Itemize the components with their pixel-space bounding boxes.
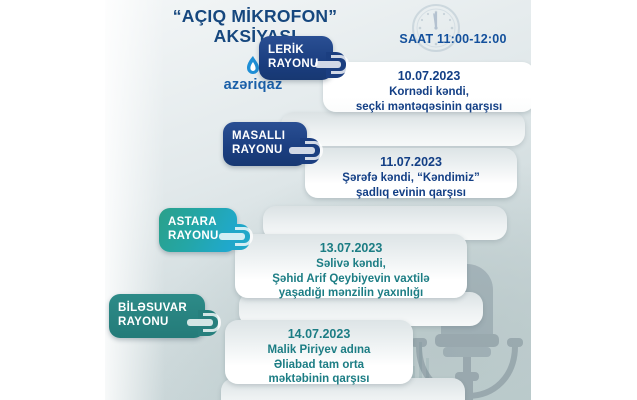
entry-address-1-line1: Kornədi kəndi, [331, 85, 527, 100]
district-tag-masalli[interactable]: MASALLI RAYONU [223, 122, 307, 166]
connector-plug [289, 141, 323, 160]
district-tag-lerik[interactable]: LERİK RAYONU [259, 36, 333, 80]
entry-address-3-line1: Səlivə kəndi, [243, 257, 459, 272]
district-tag-bilesuvar-line1: BİLƏSUVAR [118, 302, 187, 314]
poster-title-line2: AKSİYASI [105, 26, 405, 46]
poster-title-line1: “AÇIQ MİKROFON” [173, 6, 337, 26]
district-tag-bilesuvar-line2: RAYONU [118, 315, 196, 329]
campaign-poster: “AÇIQ MİKROFON” AKSİYASI azəriqaz SAAT 1… [105, 0, 531, 400]
panel-sheen [105, 0, 165, 400]
entry-date-1: 10.07.2023 [331, 68, 527, 84]
connector-plug [219, 227, 253, 246]
entry-card-4: 14.07.2023 Malik Piriyev adına Əliabad t… [225, 320, 413, 384]
entry-card-1: 10.07.2023 Kornədi kəndi, seçki məntəqəs… [323, 62, 531, 112]
entry-address-3-line2: Şəhid Arif Qeybiyevin vaxtilə [243, 272, 459, 287]
screenshot-canvas: “AÇIQ MİKROFON” AKSİYASI azəriqaz SAAT 1… [0, 0, 637, 400]
district-tag-bilesuvar[interactable]: BİLƏSUVAR RAYONU [109, 294, 205, 338]
azeriqaz-wordmark: azəriqaz [193, 78, 313, 93]
entry-address-1-line2: seçki məntəqəsinin qarşısı [331, 100, 527, 115]
entry-card-3: 13.07.2023 Səlivə kəndi, Şəhid Arif Qeyb… [235, 234, 467, 298]
entry-date-2: 11.07.2023 [313, 154, 509, 170]
entry-date-3: 13.07.2023 [243, 240, 459, 256]
entry-card-2: 11.07.2023 Şərəfə kəndi, “Kəndimiz” şadl… [305, 148, 517, 198]
district-tag-lerik-line1: LERİK [268, 44, 304, 56]
clock-icon [410, 2, 462, 54]
entry-address-3-line3: yaşadığı mənzilin yaxınlığı [243, 286, 459, 301]
connector-plug [187, 313, 221, 332]
entry-date-4: 14.07.2023 [233, 326, 405, 342]
entry-address-2-line2: şadlıq evinin qarşısı [313, 186, 509, 201]
entry-address-4-line1: Malik Piriyev adına [233, 343, 405, 358]
entry-address-4-line3: məktəbinin qarşısı [233, 372, 405, 387]
district-tag-masalli-line1: MASALLI [232, 130, 285, 142]
connector-plug [315, 55, 349, 74]
district-tag-astara[interactable]: ASTARA RAYONU [159, 208, 237, 252]
district-tag-astara-line1: ASTARA [168, 216, 217, 228]
poster-title: “AÇIQ MİKROFON” AKSİYASI [105, 6, 405, 46]
time-label: SAAT 11:00-12:00 [363, 32, 531, 46]
entry-address-2-line1: Şərəfə kəndi, “Kəndimiz” [313, 171, 509, 186]
entry-address-4-line2: Əliabad tam orta [233, 358, 405, 373]
